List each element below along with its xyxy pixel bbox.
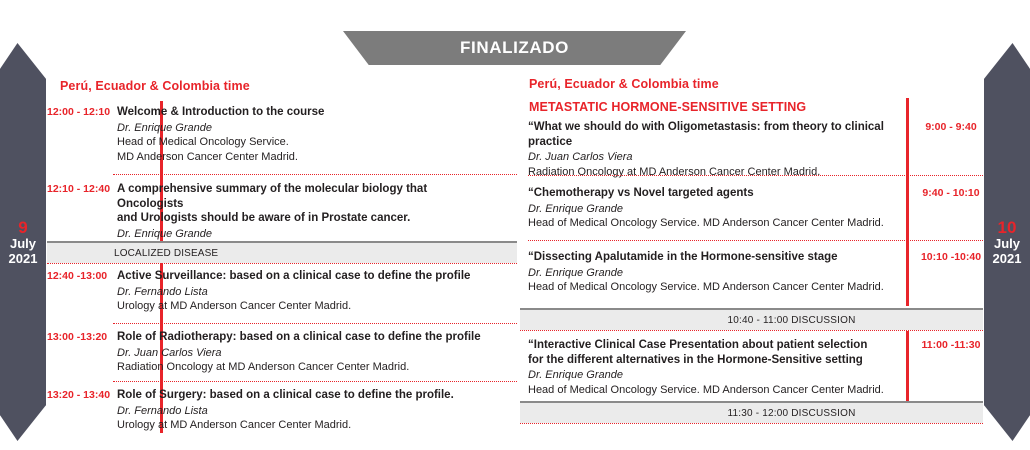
session-title: “What we should do with Oligometastasis:… xyxy=(528,120,903,149)
right-red-rule-bottom xyxy=(906,331,909,401)
session-affiliation: Urology at MD Anderson Cancer Center Mad… xyxy=(117,299,492,314)
date-tab-year: 2021 xyxy=(993,252,1022,267)
right-red-rule-top xyxy=(906,98,909,306)
date-tab-july-9[interactable]: 9 July 2021 xyxy=(0,43,46,441)
session-time: 13:00 -13:20 xyxy=(47,330,104,375)
session-separator xyxy=(113,323,517,324)
session-affiliation: Head of Medical Oncology Service. MD And… xyxy=(528,383,903,398)
session-speaker: Dr. Enrique Grande xyxy=(117,121,492,136)
agenda-column-day-1: Perú, Ecuador & Colombia time 12:00 - 12… xyxy=(47,0,517,450)
session-item[interactable]: “What we should do with Oligometastasis:… xyxy=(528,120,988,179)
date-tab-year: 2021 xyxy=(9,252,38,267)
discussion-band: 11:30 - 12:00 DISCUSSION xyxy=(520,401,983,423)
session-body: “Chemotherapy vs Novel targeted agents D… xyxy=(528,186,903,231)
discussion-band: 10:40 - 11:00 DISCUSSION xyxy=(520,308,983,330)
session-item[interactable]: 13:00 -13:20 Role of Radiotherapy: based… xyxy=(47,330,492,375)
session-item[interactable]: “Dissecting Apalutamide in the Hormone-s… xyxy=(528,250,988,295)
session-time: 10:10 -10:40 xyxy=(914,250,988,295)
session-title: “Dissecting Apalutamide in the Hormone-s… xyxy=(528,250,903,265)
session-body: Active Surveillance: based on a clinical… xyxy=(117,269,492,314)
session-separator xyxy=(528,175,983,176)
session-title-2: and Urologists should be aware of in Pro… xyxy=(117,211,492,226)
session-separator xyxy=(113,381,517,382)
session-item[interactable]: “Chemotherapy vs Novel targeted agents D… xyxy=(528,186,988,231)
session-time: 12:00 - 12:10 xyxy=(47,105,104,164)
session-time: 9:00 - 9:40 xyxy=(914,120,988,179)
section-band-localized-disease: LOCALIZED DISEASE xyxy=(47,241,517,263)
date-tab-month: July xyxy=(994,237,1020,252)
session-body: Role of Surgery: based on a clinical cas… xyxy=(117,388,492,433)
session-body: “Interactive Clinical Case Presentation … xyxy=(528,338,903,397)
session-title: Welcome & Introduction to the course xyxy=(117,105,492,120)
session-title: “Chemotherapy vs Novel targeted agents xyxy=(528,186,903,201)
session-speaker: Dr. Juan Carlos Viera xyxy=(528,150,903,165)
section-separator xyxy=(47,263,517,264)
session-title-2: for the different alternatives in the Ho… xyxy=(528,353,903,368)
left-timezone-heading: Perú, Ecuador & Colombia time xyxy=(60,79,250,93)
session-body: “What we should do with Oligometastasis:… xyxy=(528,120,903,179)
session-item[interactable]: “Interactive Clinical Case Presentation … xyxy=(528,338,988,397)
session-separator xyxy=(113,174,517,175)
session-speaker: Dr. Enrique Grande xyxy=(528,266,903,281)
session-title: “Interactive Clinical Case Presentation … xyxy=(528,338,903,353)
session-speaker: Dr. Enrique Grande xyxy=(528,202,903,217)
date-tab-july-10[interactable]: 10 July 2021 xyxy=(984,43,1030,441)
session-title: Role of Radiotherapy: based on a clinica… xyxy=(117,330,492,345)
session-title: Active Surveillance: based on a clinical… xyxy=(117,269,492,284)
session-affiliation: Radiation Oncology at MD Anderson Cancer… xyxy=(528,165,903,180)
session-body: “Dissecting Apalutamide in the Hormone-s… xyxy=(528,250,903,295)
session-speaker: Dr. Enrique Grande xyxy=(117,227,492,242)
session-time: 9:40 - 10:10 xyxy=(914,186,988,231)
session-body: Welcome & Introduction to the course Dr.… xyxy=(117,105,492,164)
session-affiliation: Urology at MD Anderson Cancer Center Mad… xyxy=(117,418,492,433)
session-affiliation: Head of Medical Oncology Service. xyxy=(117,135,492,150)
right-section-heading: METASTATIC HORMONE-SENSITIVE SETTING xyxy=(529,100,806,114)
session-affiliation: Radiation Oncology at MD Anderson Cancer… xyxy=(117,360,492,375)
session-body: Role of Radiotherapy: based on a clinica… xyxy=(117,330,492,375)
session-affiliation: Head of Medical Oncology Service. MD And… xyxy=(528,216,903,231)
right-timezone-heading: Perú, Ecuador & Colombia time xyxy=(529,77,719,91)
session-item[interactable]: 12:40 -13:00 Active Surveillance: based … xyxy=(47,269,492,314)
session-item[interactable]: 13:20 - 13:40 Role of Surgery: based on … xyxy=(47,388,492,433)
discussion-band-label: 10:40 - 11:00 DISCUSSION xyxy=(647,315,855,326)
session-time: 11:00 -11:30 xyxy=(914,338,988,397)
agenda-column-day-2: Perú, Ecuador & Colombia time METASTATIC… xyxy=(520,0,983,450)
section-separator xyxy=(520,330,983,331)
discussion-band-label: 11:30 - 12:00 DISCUSSION xyxy=(647,408,855,419)
session-speaker: Dr. Fernando Lista xyxy=(117,404,492,419)
session-time: 12:40 -13:00 xyxy=(47,269,104,314)
session-title: A comprehensive summary of the molecular… xyxy=(117,182,492,211)
session-speaker: Dr. Fernando Lista xyxy=(117,285,492,300)
session-speaker: Dr. Enrique Grande xyxy=(528,368,903,383)
section-band-label: LOCALIZED DISEASE xyxy=(47,248,218,259)
session-affiliation-2: MD Anderson Cancer Center Madrid. xyxy=(117,150,492,165)
session-separator xyxy=(528,240,983,241)
session-time: 13:20 - 13:40 xyxy=(47,388,104,433)
section-separator xyxy=(520,423,983,424)
date-tab-month: July xyxy=(10,237,36,252)
session-title: Role of Surgery: based on a clinical cas… xyxy=(117,388,492,403)
session-item[interactable]: 12:00 - 12:10 Welcome & Introduction to … xyxy=(47,105,492,164)
date-tab-day: 10 xyxy=(998,218,1017,237)
session-affiliation: Head of Medical Oncology Service. MD And… xyxy=(528,280,903,295)
date-tab-day: 9 xyxy=(18,218,27,237)
session-speaker: Dr. Juan Carlos Viera xyxy=(117,346,492,361)
